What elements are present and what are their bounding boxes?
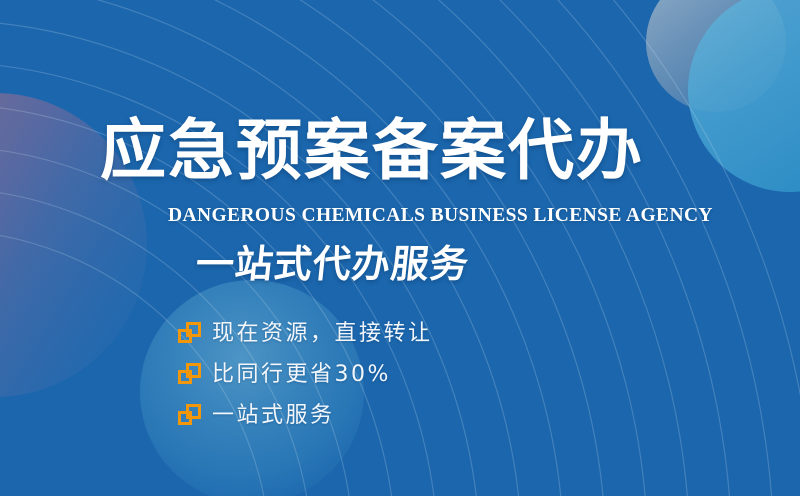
list-item: 一站式服务 — [178, 398, 433, 434]
english-subtitle: DANGEROUS CHEMICALS BUSINESS LICENSE AGE… — [168, 206, 713, 226]
feature-list: 现在资源，直接转让 比同行更省30% 一站式服务 — [178, 316, 433, 439]
list-item: 现在资源，直接转让 — [178, 316, 433, 352]
list-item-label: 一站式服务 — [212, 405, 335, 427]
double-square-icon — [178, 322, 202, 346]
double-square-icon — [178, 363, 202, 387]
list-item-label: 比同行更省30% — [212, 364, 391, 386]
page-title: 应急预案备案代办 — [100, 118, 644, 184]
banner-content: 应急预案备案代办 DANGEROUS CHEMICALS BUSINESS LI… — [0, 0, 800, 496]
double-square-icon — [178, 404, 202, 428]
list-item-label: 现在资源，直接转让 — [212, 323, 433, 345]
promo-banner: 应急预案备案代办 DANGEROUS CHEMICALS BUSINESS LI… — [0, 0, 800, 496]
list-item: 比同行更省30% — [178, 357, 433, 393]
chinese-subtitle: 一站式代办服务 — [194, 245, 471, 283]
